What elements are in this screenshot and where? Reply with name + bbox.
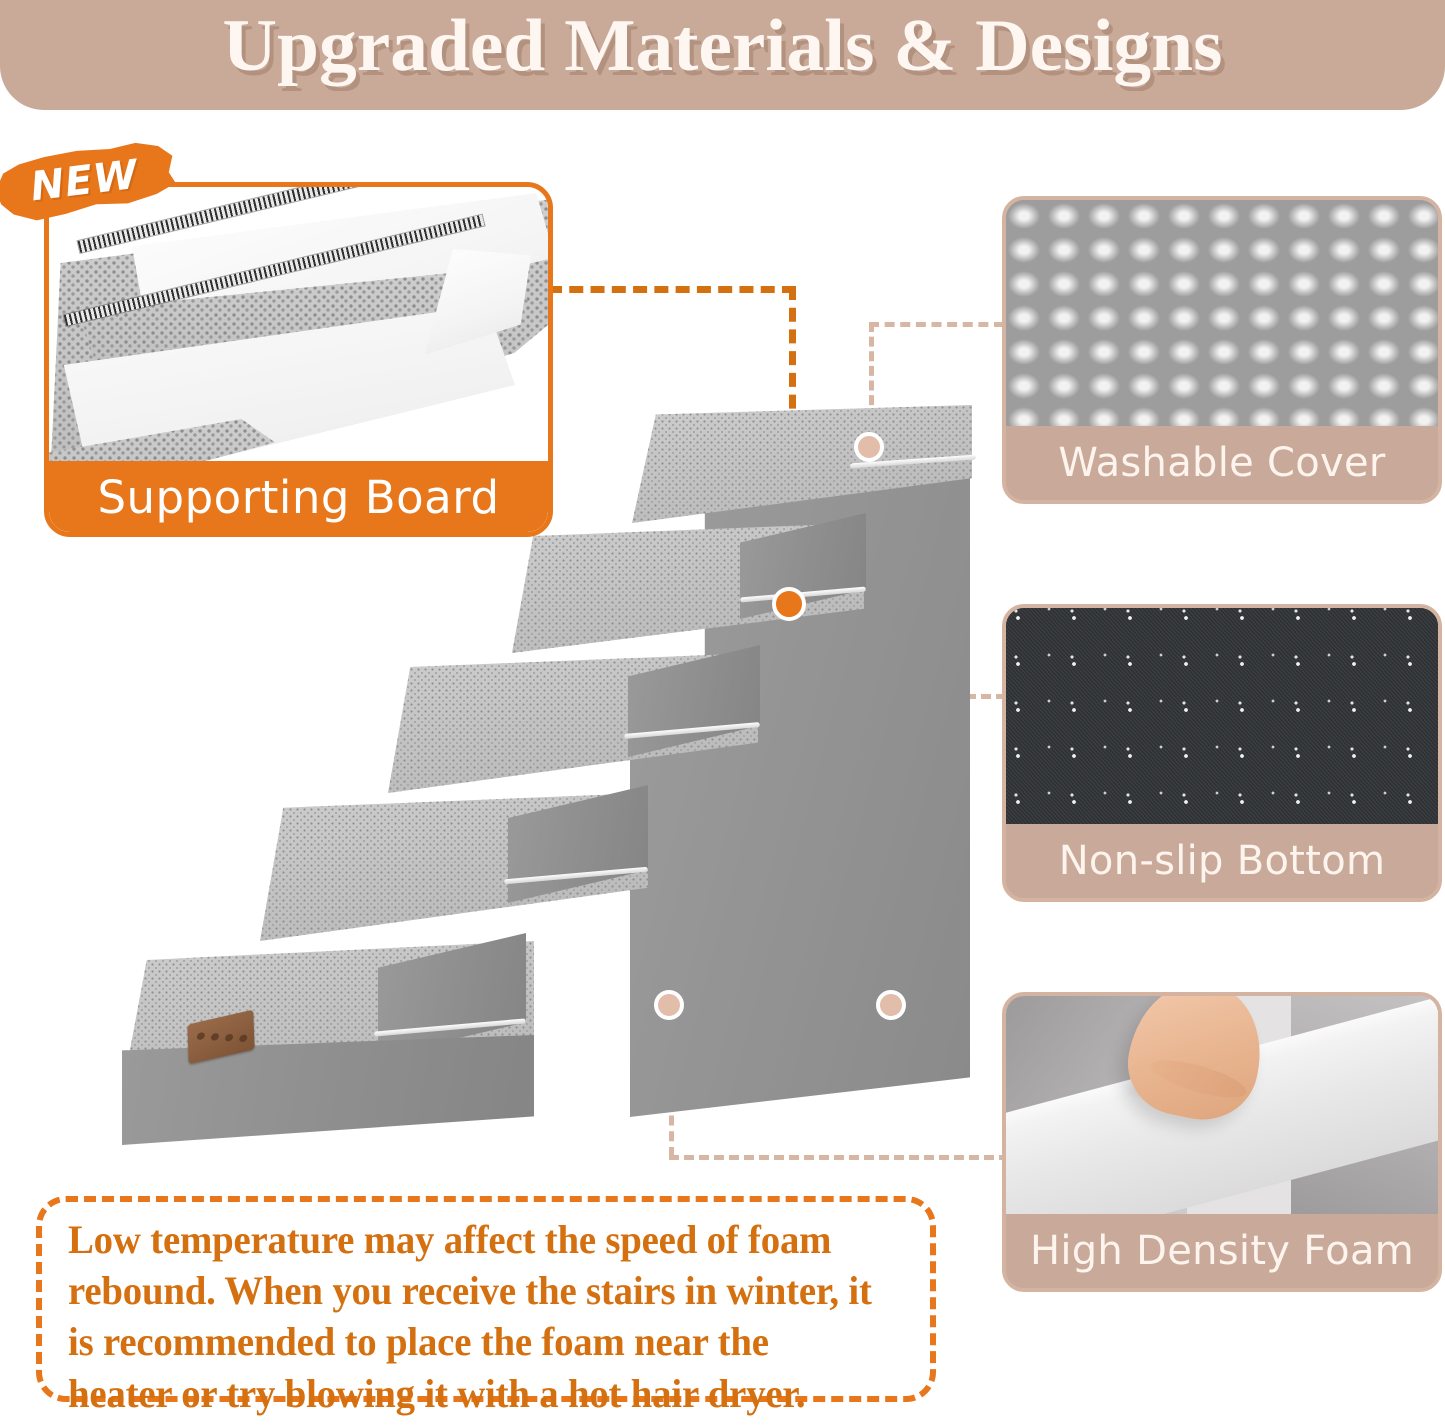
warning-note-text: Low temperature may affect the speed of … <box>68 1214 879 1419</box>
feature-label-non-slip-bottom: Non-slip Bottom <box>1006 824 1438 898</box>
feature-label-supporting-board: Supporting Board <box>48 461 549 533</box>
stairs-bottom-front <box>122 1035 534 1145</box>
feature-card-supporting-board[interactable]: Supporting Board <box>44 182 553 537</box>
feature-label-text: Supporting Board <box>97 471 499 524</box>
paw-print-icon <box>225 1033 233 1042</box>
connector-washable-cover-horizontal <box>869 322 1004 327</box>
callout-dot-high-density-foam[interactable] <box>654 990 684 1020</box>
callout-dot-washable-cover[interactable] <box>854 432 884 462</box>
header-banner: Upgraded Materials & Designs <box>0 0 1445 110</box>
feature-label-text: Non-slip Bottom <box>1059 838 1386 884</box>
paw-print-icon <box>211 1032 219 1041</box>
infographic-canvas: Upgraded Materials & Designs <box>0 0 1445 1428</box>
high-density-foam-texture <box>1006 996 1438 1214</box>
paw-print-icon <box>239 1034 247 1043</box>
feature-label-high-density-foam: High Density Foam <box>1006 1214 1438 1288</box>
connector-supporting-board-horizontal <box>548 286 796 293</box>
feature-label-text: High Density Foam <box>1030 1228 1414 1274</box>
feature-label-text: Washable Cover <box>1058 440 1385 486</box>
feature-label-washable-cover: Washable Cover <box>1006 426 1438 500</box>
callout-dot-non-slip-bottom[interactable] <box>876 990 906 1020</box>
washable-cover-photo <box>1006 200 1438 426</box>
page-title: Upgraded Materials & Designs <box>0 4 1445 89</box>
washable-cover-texture <box>1006 200 1438 426</box>
feature-panel-non-slip-bottom[interactable]: Non-slip Bottom <box>1002 604 1442 902</box>
high-density-foam-photo <box>1006 996 1438 1214</box>
callout-dot-supporting-board[interactable] <box>772 587 806 621</box>
feature-panel-high-density-foam[interactable]: High Density Foam <box>1002 992 1442 1292</box>
warning-note-box: Low temperature may affect the speed of … <box>36 1196 936 1402</box>
non-slip-bottom-texture <box>1006 608 1438 824</box>
non-slip-bottom-photo <box>1006 608 1438 824</box>
paw-print-icon <box>197 1032 205 1041</box>
feature-panel-washable-cover[interactable]: Washable Cover <box>1002 196 1442 504</box>
